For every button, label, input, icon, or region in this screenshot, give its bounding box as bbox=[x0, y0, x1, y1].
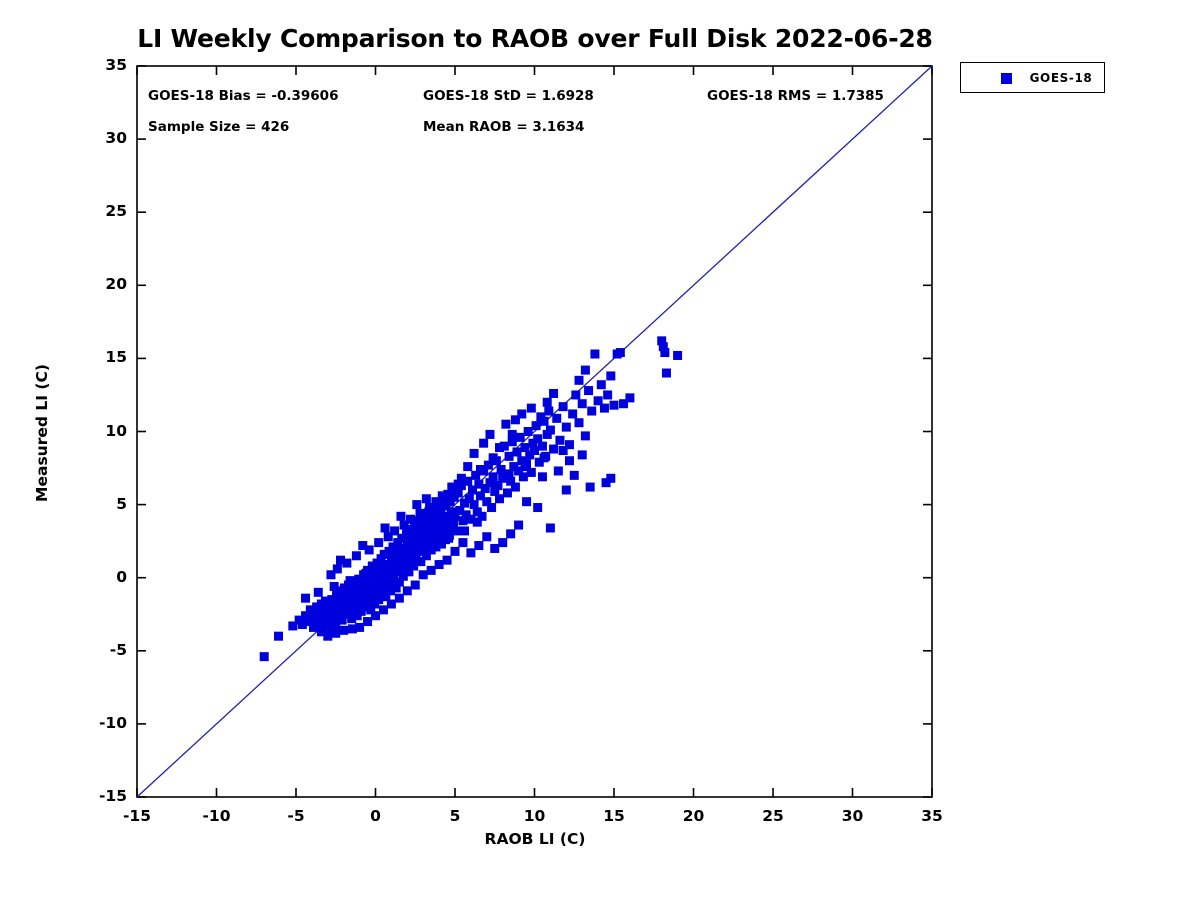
scatter-point bbox=[498, 538, 507, 547]
scatter-point bbox=[554, 466, 563, 475]
x-tick-label: 30 bbox=[823, 807, 883, 825]
scatter-point bbox=[555, 436, 564, 445]
scatter-point bbox=[590, 350, 599, 359]
scatter-point bbox=[584, 386, 593, 395]
scatter-point bbox=[352, 551, 361, 560]
x-tick-label: 0 bbox=[346, 807, 406, 825]
x-tick-label: 5 bbox=[425, 807, 485, 825]
scatter-point bbox=[511, 483, 520, 492]
y-tick-label: -10 bbox=[67, 714, 127, 732]
scatter-point bbox=[533, 503, 542, 512]
scatter-point bbox=[495, 443, 504, 452]
y-tick-label: 15 bbox=[67, 348, 127, 366]
scatter-point bbox=[660, 348, 669, 357]
scatter-point bbox=[463, 462, 472, 471]
scatter-point bbox=[274, 632, 283, 641]
scatter-point bbox=[435, 560, 444, 569]
scatter-point bbox=[451, 547, 460, 556]
scatter-point bbox=[532, 421, 541, 430]
scatter-point bbox=[443, 556, 452, 565]
scatter-point bbox=[470, 449, 479, 458]
scatter-point bbox=[501, 420, 510, 429]
scatter-point bbox=[578, 450, 587, 459]
x-tick-label: -15 bbox=[107, 807, 167, 825]
scatter-point bbox=[565, 456, 574, 465]
scatter-point bbox=[538, 472, 547, 481]
scatter-point bbox=[454, 480, 463, 489]
scatter-point bbox=[487, 503, 496, 512]
scatter-point bbox=[374, 538, 383, 547]
scatter-point bbox=[411, 581, 420, 590]
scatter-point bbox=[514, 521, 523, 530]
y-tick-label: -15 bbox=[67, 787, 127, 805]
scatter-point bbox=[490, 544, 499, 553]
scatter-point bbox=[559, 446, 568, 455]
scatter-point bbox=[317, 627, 326, 636]
scatter-point bbox=[419, 570, 428, 579]
y-tick-label: 35 bbox=[67, 56, 127, 74]
scatter-point bbox=[530, 446, 539, 455]
y-tick-label: -5 bbox=[67, 641, 127, 659]
x-tick-label: 10 bbox=[505, 807, 565, 825]
stat-sample-size: Sample Size = 426 bbox=[148, 119, 289, 135]
scatter-point bbox=[538, 442, 547, 451]
scatter-point bbox=[546, 523, 555, 532]
scatter-point bbox=[540, 453, 549, 462]
scatter-point bbox=[473, 518, 482, 527]
y-tick-label: 10 bbox=[67, 422, 127, 440]
scatter-point bbox=[416, 509, 425, 518]
x-tick-label: -10 bbox=[187, 807, 247, 825]
scatter-point bbox=[395, 594, 404, 603]
scatter-point bbox=[575, 376, 584, 385]
scatter-point bbox=[606, 371, 615, 380]
scatter-point bbox=[508, 430, 517, 439]
scatter-point bbox=[347, 614, 356, 623]
scatter-point bbox=[387, 600, 396, 609]
scatter-point bbox=[336, 556, 345, 565]
scatter-point bbox=[559, 402, 568, 411]
scatter-point bbox=[466, 548, 475, 557]
scatter-point bbox=[458, 538, 467, 547]
scatter-point bbox=[575, 418, 584, 427]
scatter-point bbox=[381, 523, 390, 532]
scatter-plot-canvas bbox=[0, 0, 1200, 900]
scatter-point bbox=[409, 550, 418, 559]
scatter-point bbox=[301, 594, 310, 603]
x-tick-label: 15 bbox=[584, 807, 644, 825]
one-to-one-reference-line bbox=[137, 66, 932, 797]
legend-label-goes-18: GOES-18 bbox=[1023, 71, 1099, 85]
scatter-point bbox=[331, 629, 340, 638]
scatter-point bbox=[396, 512, 405, 521]
scatter-point bbox=[474, 541, 483, 550]
scatter-point bbox=[339, 626, 348, 635]
scatter-point bbox=[587, 407, 596, 416]
scatter-point bbox=[516, 433, 525, 442]
scatter-point bbox=[503, 488, 512, 497]
scatter-point bbox=[452, 526, 461, 535]
stat-bias: GOES-18 Bias = -0.39606 bbox=[148, 88, 338, 104]
x-tick-label: -5 bbox=[266, 807, 326, 825]
y-tick-label: 5 bbox=[67, 495, 127, 513]
scatter-point bbox=[371, 611, 380, 620]
scatter-point bbox=[527, 404, 536, 413]
scatter-point bbox=[673, 351, 682, 360]
stat-rms: GOES-18 RMS = 1.7385 bbox=[707, 88, 884, 104]
scatter-point bbox=[377, 563, 386, 572]
scatter-point bbox=[597, 380, 606, 389]
scatter-point bbox=[427, 566, 436, 575]
scatter-point bbox=[562, 485, 571, 494]
legend-swatch-goes-18 bbox=[1001, 73, 1012, 84]
x-tick-label: 20 bbox=[664, 807, 724, 825]
scatter-point bbox=[662, 369, 671, 378]
scatter-point bbox=[570, 471, 579, 480]
scatter-point bbox=[489, 472, 498, 481]
y-tick-label: 30 bbox=[67, 129, 127, 147]
scatter-point bbox=[403, 586, 412, 595]
stat-std: GOES-18 StD = 1.6928 bbox=[423, 88, 594, 104]
scatter-point bbox=[482, 532, 491, 541]
scatter-point bbox=[568, 409, 577, 418]
scatter-point bbox=[600, 404, 609, 413]
scatter-point bbox=[400, 521, 409, 530]
scatter-point bbox=[379, 605, 388, 614]
scatter-point bbox=[485, 430, 494, 439]
x-tick-label: 35 bbox=[902, 807, 962, 825]
y-tick-label: 20 bbox=[67, 275, 127, 293]
scatter-point bbox=[412, 500, 421, 509]
scatter-point bbox=[543, 398, 552, 407]
scatter-point bbox=[384, 532, 393, 541]
scatter-point bbox=[363, 617, 372, 626]
scatter-series-goes-18 bbox=[260, 336, 682, 661]
scatter-point bbox=[330, 582, 339, 591]
scatter-point bbox=[610, 401, 619, 410]
scatter-point bbox=[544, 407, 553, 416]
scatter-point bbox=[314, 588, 323, 597]
scatter-point bbox=[505, 471, 514, 480]
scatter-point bbox=[506, 529, 515, 538]
x-tick-label: 25 bbox=[743, 807, 803, 825]
y-tick-label: 25 bbox=[67, 202, 127, 220]
scatter-point bbox=[522, 497, 531, 506]
scatter-point bbox=[586, 483, 595, 492]
scatter-point bbox=[571, 390, 580, 399]
scatter-point bbox=[489, 453, 498, 462]
scatter-point bbox=[578, 399, 587, 408]
y-tick-label: 0 bbox=[67, 568, 127, 586]
scatter-point bbox=[361, 569, 370, 578]
scatter-point bbox=[346, 576, 355, 585]
scatter-point bbox=[625, 393, 634, 402]
scatter-point bbox=[546, 426, 555, 435]
scatter-point bbox=[505, 452, 514, 461]
legend[interactable]: GOES-18 bbox=[960, 62, 1105, 93]
scatter-point bbox=[260, 652, 269, 661]
scatter-point bbox=[581, 431, 590, 440]
scatter-point bbox=[428, 541, 437, 550]
scatter-point bbox=[393, 557, 402, 566]
y-axis-label: Measured LI (C) bbox=[33, 333, 51, 533]
scatter-point bbox=[606, 474, 615, 483]
scatter-point bbox=[460, 526, 469, 535]
scatter-point bbox=[616, 348, 625, 357]
x-axis-label: RAOB LI (C) bbox=[0, 830, 1070, 848]
chart-figure: LI Weekly Comparison to RAOB over Full D… bbox=[0, 0, 1200, 900]
scatter-point bbox=[524, 427, 533, 436]
scatter-point bbox=[549, 389, 558, 398]
scatter-point bbox=[552, 414, 561, 423]
scatter-point bbox=[540, 417, 549, 426]
scatter-point bbox=[425, 503, 434, 512]
scatter-point bbox=[513, 447, 522, 456]
scatter-point bbox=[476, 465, 485, 474]
scatter-point bbox=[581, 366, 590, 375]
scatter-point bbox=[495, 494, 504, 503]
scatter-point bbox=[479, 439, 488, 448]
scatter-point bbox=[422, 494, 431, 503]
scatter-point bbox=[511, 415, 520, 424]
stat-mean-raob: Mean RAOB = 3.1634 bbox=[423, 119, 584, 135]
scatter-point bbox=[355, 623, 364, 632]
scatter-point bbox=[519, 472, 528, 481]
scatter-point bbox=[520, 462, 529, 471]
scatter-point bbox=[562, 423, 571, 432]
scatter-point bbox=[603, 390, 612, 399]
scatter-point bbox=[444, 534, 453, 543]
scatter-point bbox=[358, 541, 367, 550]
scatter-point bbox=[326, 570, 335, 579]
scatter-point bbox=[549, 445, 558, 454]
